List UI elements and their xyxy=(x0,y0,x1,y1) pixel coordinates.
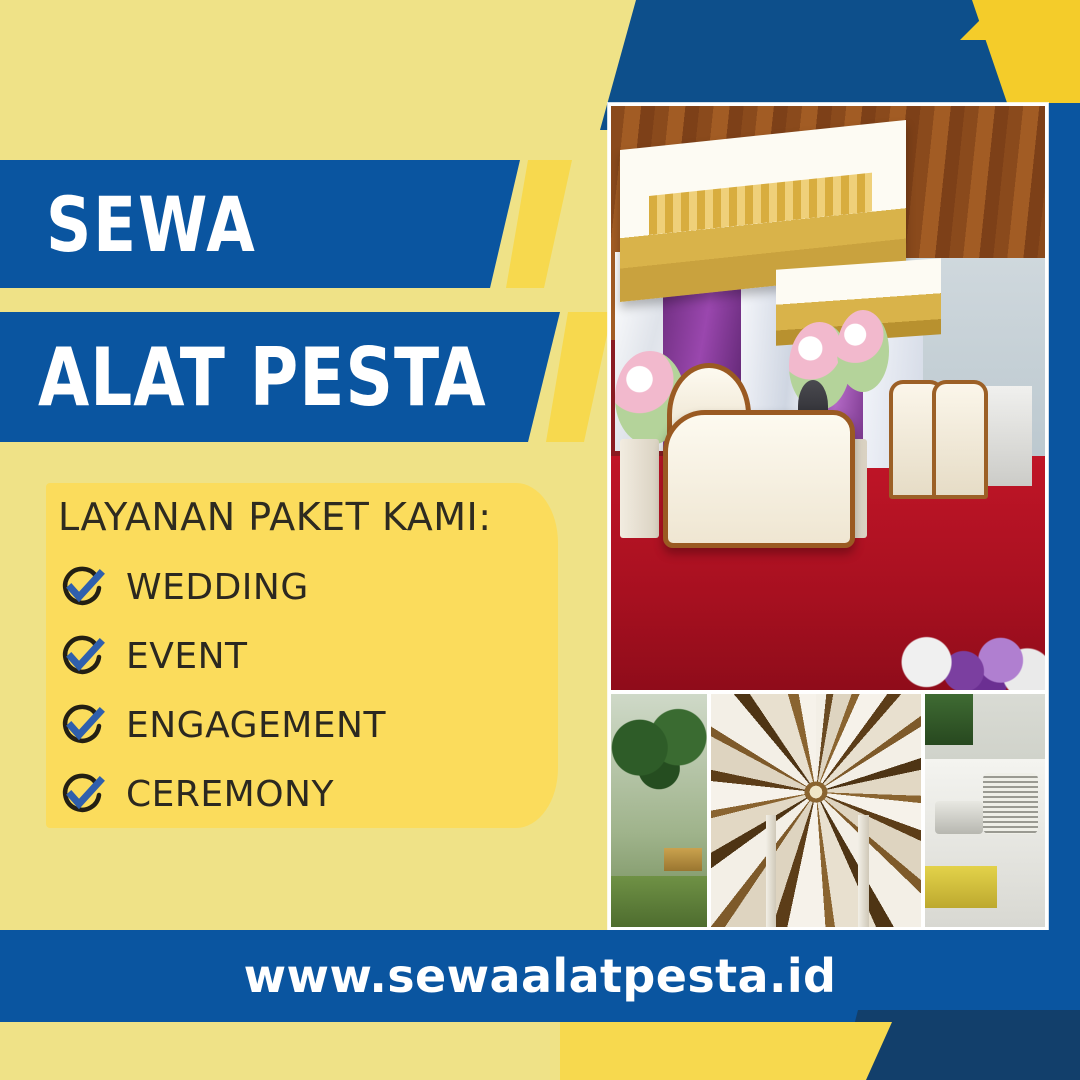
headline-accent-stripe-1 xyxy=(506,160,572,288)
list-item: ENGAGEMENT xyxy=(58,691,528,760)
poster-canvas: SEWA ALAT PESTA LAYANAN PAKET KAMI: WEDD… xyxy=(0,0,1080,1080)
headline-banner-1: SEWA xyxy=(0,160,520,288)
check-circle-icon xyxy=(58,771,106,819)
check-circle-icon xyxy=(58,702,106,750)
check-circle-icon xyxy=(58,633,106,681)
list-item: WEDDING xyxy=(58,553,528,622)
service-label: EVENT xyxy=(126,636,248,677)
headline-accent-stripe-2 xyxy=(546,312,612,442)
headline-banner-2: ALAT PESTA xyxy=(0,312,560,442)
thumbnail-strip xyxy=(611,694,1045,927)
service-label: ENGAGEMENT xyxy=(126,705,386,746)
headline-line-2: ALAT PESTA xyxy=(38,331,487,424)
catering-table-plates-photo xyxy=(925,694,1045,927)
services-list: WEDDING EVENT ENGAGEMENT xyxy=(58,553,528,829)
photo-collage xyxy=(608,103,1048,930)
corner-decoration-bottom-left-pale xyxy=(0,1022,580,1080)
service-label: CEREMONY xyxy=(126,774,334,815)
list-item: CEREMONY xyxy=(58,760,528,829)
list-item: EVENT xyxy=(58,622,528,691)
service-label: WEDDING xyxy=(126,567,309,608)
check-circle-icon xyxy=(58,564,106,612)
headline-line-1: SEWA xyxy=(46,180,257,269)
green-draped-tent-photo xyxy=(611,694,707,927)
white-gold-tent-ceiling-drape-photo xyxy=(711,694,921,927)
services-title: LAYANAN PAKET KAMI: xyxy=(58,495,492,539)
website-url[interactable]: www.sewaalatpesta.id xyxy=(0,930,1080,1022)
wedding-stage-pelaminan-photo xyxy=(611,106,1045,690)
